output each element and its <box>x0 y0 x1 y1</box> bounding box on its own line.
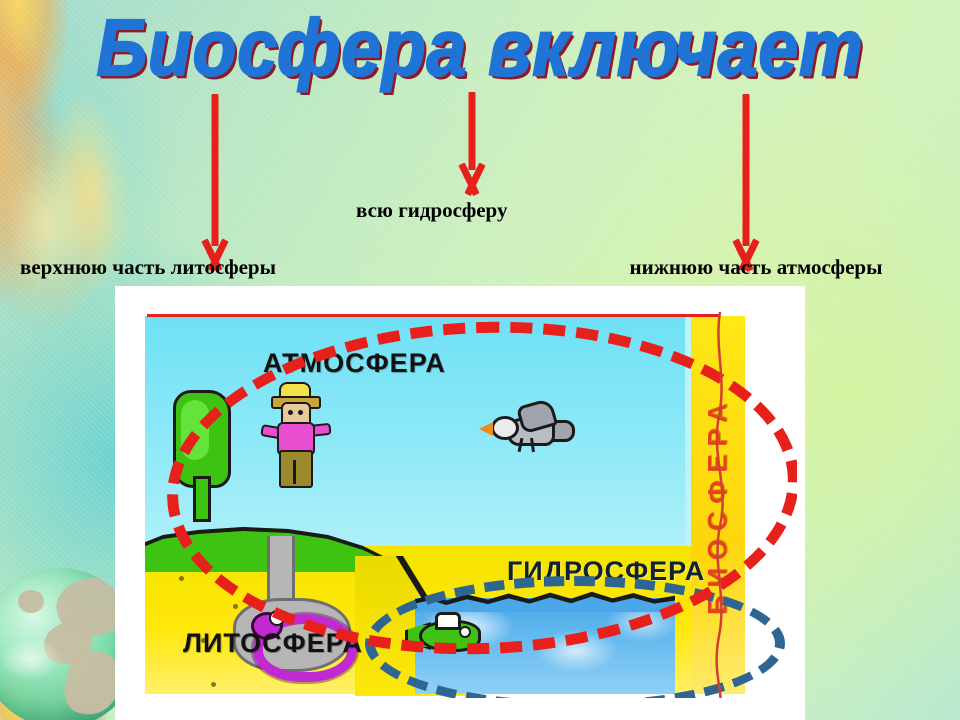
picture-margin-right <box>797 286 805 720</box>
branch-label-lithosphere: верхнюю часть литосферы <box>20 255 276 280</box>
picture-margin-left <box>115 286 145 720</box>
slide-canvas: Биосфера включает верхнюю часть литосфер… <box>0 0 960 720</box>
diagram-illustration: БИОСФЕРА АТМОСФЕРА ЛИТОСФЕРА ГИДРОСФЕРА <box>115 286 805 720</box>
squiggle-line-icon <box>707 306 733 706</box>
picture-margin-bottom <box>115 698 805 720</box>
frame-line-top <box>147 314 719 317</box>
picture-margin-top <box>115 286 805 312</box>
branch-label-hydrosphere: всю гидросферу <box>356 198 507 223</box>
page-title: Биосфера включает <box>96 2 863 93</box>
title-area: Биосфера включает <box>0 2 960 82</box>
branch-label-atmosphere: нижнюю часть атмосферы <box>630 255 883 280</box>
